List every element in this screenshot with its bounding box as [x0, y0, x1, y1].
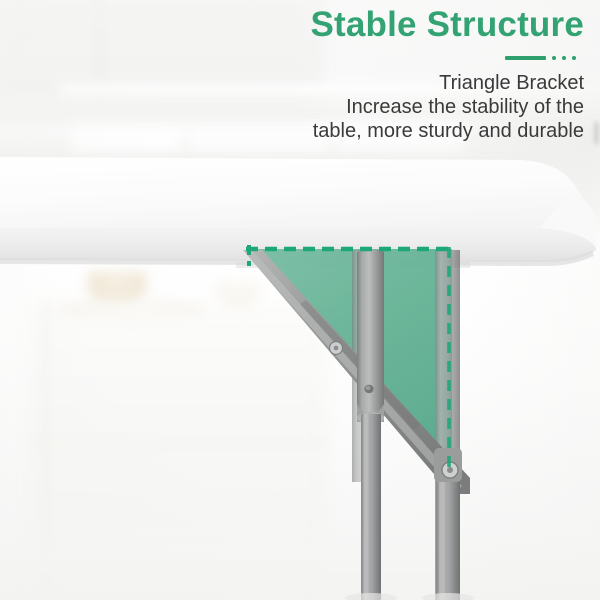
divider-bar — [505, 56, 546, 60]
height-adjust-pin-center — [366, 386, 371, 390]
table-top-surface — [0, 157, 596, 238]
divider-dot-2 — [562, 56, 566, 60]
rear-leg-shadow — [422, 593, 474, 600]
description-line-3: table, more sturdy and durable — [184, 119, 584, 143]
rear-leg-lower-highlight — [439, 470, 445, 600]
divider-dot-1 — [552, 56, 556, 60]
divider — [184, 53, 576, 63]
bolt-joint-center — [334, 346, 339, 351]
front-leg-shadow — [345, 593, 397, 600]
front-leg-lower-highlight — [364, 414, 369, 600]
rear-leg-lower — [434, 448, 462, 600]
page-title: Stable Structure — [184, 4, 584, 46]
leg-brace-bolt-center — [447, 467, 453, 473]
description: Triangle Bracket Increase the stability … — [184, 71, 584, 143]
text-block: Stable Structure Triangle Bracket Increa… — [184, 4, 584, 143]
divider-dot-3 — [572, 56, 576, 60]
front-leg-upper — [357, 250, 384, 422]
front-leg — [357, 250, 384, 600]
description-line-1: Triangle Bracket — [184, 71, 584, 95]
product-banner: Stable Structure Triangle Bracket Increa… — [0, 0, 600, 600]
description-line-2: Increase the stability of the — [184, 95, 584, 119]
